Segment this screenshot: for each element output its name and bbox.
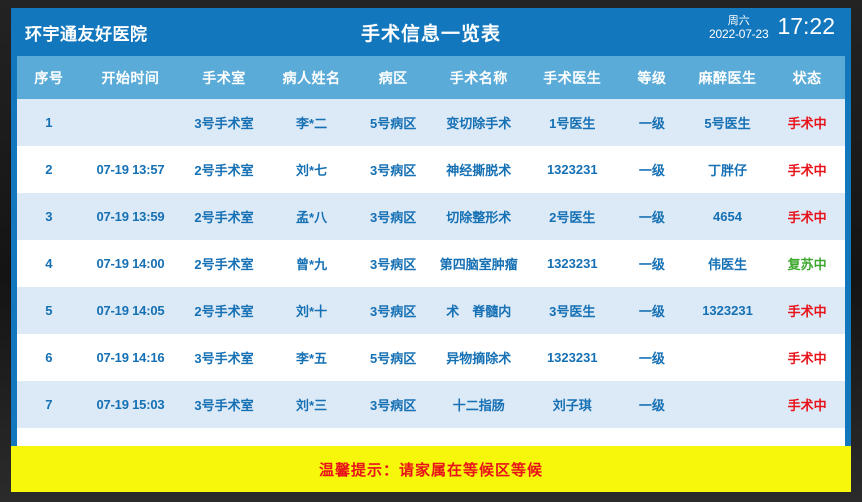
- cell-status: 手术中: [769, 146, 845, 193]
- cell-ward: 3号病区: [355, 287, 431, 334]
- cell-surgery-name: 第四脑室肿瘤: [431, 240, 527, 287]
- cell-patient: 曾*九: [268, 240, 356, 287]
- table-body: 13号手术室李*二5号病区变切除手术1号医生一级5号医生手术中207-19 13…: [17, 99, 845, 428]
- notice-bar: 温馨提示：请家属在等候区等候: [11, 446, 851, 492]
- cell-patient: 李*五: [268, 334, 356, 381]
- table-header-row: 序号 开始时间 手术室 病人姓名 病区 手术名称 手术医生 等级 麻醉医生 状态: [17, 56, 845, 99]
- display-bezel: 环宇通友好医院 手术信息一览表 周六 2022-07-23 17:22: [0, 0, 862, 502]
- notice-text: 温馨提示：请家属在等候区等候: [319, 459, 543, 480]
- cell-start-time: 07-19 14:05: [81, 287, 181, 334]
- cell-anesthetist: [686, 381, 770, 428]
- col-header-surgeon: 手术医生: [526, 56, 618, 99]
- col-header-surgery: 手术名称: [431, 56, 527, 99]
- cell-patient: 李*二: [268, 99, 356, 146]
- cell-room: 2号手术室: [180, 193, 268, 240]
- table-row: 207-19 13:572号手术室刘*七3号病区神经撕脱术1323231一级丁胖…: [17, 146, 845, 193]
- cell-level: 一级: [618, 287, 686, 334]
- cell-level: 一级: [618, 240, 686, 287]
- cell-index: 5: [17, 287, 81, 334]
- table-container: 序号 开始时间 手术室 病人姓名 病区 手术名称 手术医生 等级 麻醉医生 状态: [17, 56, 845, 446]
- cell-patient: 刘*三: [268, 381, 356, 428]
- cell-start-time: 07-19 13:59: [81, 193, 181, 240]
- clock-time: 17:22: [777, 13, 835, 42]
- cell-room: 3号手术室: [180, 381, 268, 428]
- cell-surgery-name: 十二指肠: [431, 381, 527, 428]
- cell-surgeon: 1323231: [526, 146, 618, 193]
- cell-level: 一级: [618, 334, 686, 381]
- cell-anesthetist: 4654: [686, 193, 770, 240]
- cell-surgery-name: 神经撕脱术: [431, 146, 527, 193]
- cell-status: 复苏中: [769, 240, 845, 287]
- cell-status: 手术中: [769, 99, 845, 146]
- table-row: 13号手术室李*二5号病区变切除手术1号医生一级5号医生手术中: [17, 99, 845, 146]
- cell-status: 手术中: [769, 381, 845, 428]
- col-header-anesthetist: 麻醉医生: [686, 56, 770, 99]
- cell-surgeon: 1号医生: [526, 99, 618, 146]
- col-header-level: 等级: [618, 56, 686, 99]
- table-region: 序号 开始时间 手术室 病人姓名 病区 手术名称 手术医生 等级 麻醉医生 状态: [11, 56, 851, 446]
- cell-start-time: 07-19 15:03: [81, 381, 181, 428]
- cell-patient: 刘*十: [268, 287, 356, 334]
- cell-index: 2: [17, 146, 81, 193]
- cell-room: 2号手术室: [180, 240, 268, 287]
- cell-ward: 5号病区: [355, 99, 431, 146]
- cell-surgeon: 2号医生: [526, 193, 618, 240]
- cell-start-time: [81, 99, 181, 146]
- cell-index: 1: [17, 99, 81, 146]
- table-row: 407-19 14:002号手术室曾*九3号病区第四脑室肿瘤1323231一级伟…: [17, 240, 845, 287]
- cell-anesthetist: 伟医生: [686, 240, 770, 287]
- date-stack: 周六 2022-07-23: [709, 14, 768, 40]
- display-screen: 环宇通友好医院 手术信息一览表 周六 2022-07-23 17:22: [11, 8, 851, 492]
- cell-anesthetist: 5号医生: [686, 99, 770, 146]
- cell-level: 一级: [618, 146, 686, 193]
- col-header-start-time: 开始时间: [81, 56, 181, 99]
- col-header-ward: 病区: [355, 56, 431, 99]
- board-header: 环宇通友好医院 手术信息一览表 周六 2022-07-23 17:22: [11, 8, 851, 56]
- cell-patient: 孟*八: [268, 193, 356, 240]
- cell-index: 6: [17, 334, 81, 381]
- cell-start-time: 07-19 14:00: [81, 240, 181, 287]
- col-header-status: 状态: [769, 56, 845, 99]
- cell-ward: 3号病区: [355, 240, 431, 287]
- datetime-block: 周六 2022-07-23 17:22: [709, 13, 835, 42]
- cell-start-time: 07-19 13:57: [81, 146, 181, 193]
- cell-start-time: 07-19 14:16: [81, 334, 181, 381]
- table-row: 307-19 13:592号手术室孟*八3号病区切除整形术2号医生一级4654手…: [17, 193, 845, 240]
- cell-anesthetist: [686, 334, 770, 381]
- date-label: 2022-07-23: [709, 28, 768, 41]
- cell-level: 一级: [618, 193, 686, 240]
- cell-anesthetist: 1323231: [686, 287, 770, 334]
- cell-room: 3号手术室: [180, 334, 268, 381]
- cell-ward: 3号病区: [355, 381, 431, 428]
- col-header-index: 序号: [17, 56, 81, 99]
- cell-patient: 刘*七: [268, 146, 356, 193]
- cell-surgeon: 3号医生: [526, 287, 618, 334]
- cell-ward: 3号病区: [355, 146, 431, 193]
- cell-room: 2号手术室: [180, 146, 268, 193]
- cell-room: 2号手术室: [180, 287, 268, 334]
- cell-ward: 5号病区: [355, 334, 431, 381]
- cell-surgery-name: 术 脊髓内: [431, 287, 527, 334]
- cell-surgeon: 刘子琪: [526, 381, 618, 428]
- cell-status: 手术中: [769, 193, 845, 240]
- table-row: 607-19 14:163号手术室李*五5号病区异物摘除术1323231一级手术…: [17, 334, 845, 381]
- table-row: 507-19 14:052号手术室刘*十3号病区术 脊髓内3号医生一级13232…: [17, 287, 845, 334]
- col-header-patient: 病人姓名: [268, 56, 356, 99]
- cell-level: 一级: [618, 381, 686, 428]
- cell-surgery-name: 切除整形术: [431, 193, 527, 240]
- col-header-room: 手术室: [180, 56, 268, 99]
- cell-surgery-name: 变切除手术: [431, 99, 527, 146]
- cell-surgery-name: 异物摘除术: [431, 334, 527, 381]
- cell-index: 4: [17, 240, 81, 287]
- cell-surgeon: 1323231: [526, 334, 618, 381]
- cell-level: 一级: [618, 99, 686, 146]
- cell-index: 7: [17, 381, 81, 428]
- cell-ward: 3号病区: [355, 193, 431, 240]
- surgery-table: 序号 开始时间 手术室 病人姓名 病区 手术名称 手术医生 等级 麻醉医生 状态: [17, 56, 845, 428]
- cell-index: 3: [17, 193, 81, 240]
- cell-status: 手术中: [769, 287, 845, 334]
- cell-anesthetist: 丁胖仔: [686, 146, 770, 193]
- cell-surgeon: 1323231: [526, 240, 618, 287]
- table-row: 707-19 15:033号手术室刘*三3号病区十二指肠刘子琪一级手术中: [17, 381, 845, 428]
- cell-room: 3号手术室: [180, 99, 268, 146]
- cell-status: 手术中: [769, 334, 845, 381]
